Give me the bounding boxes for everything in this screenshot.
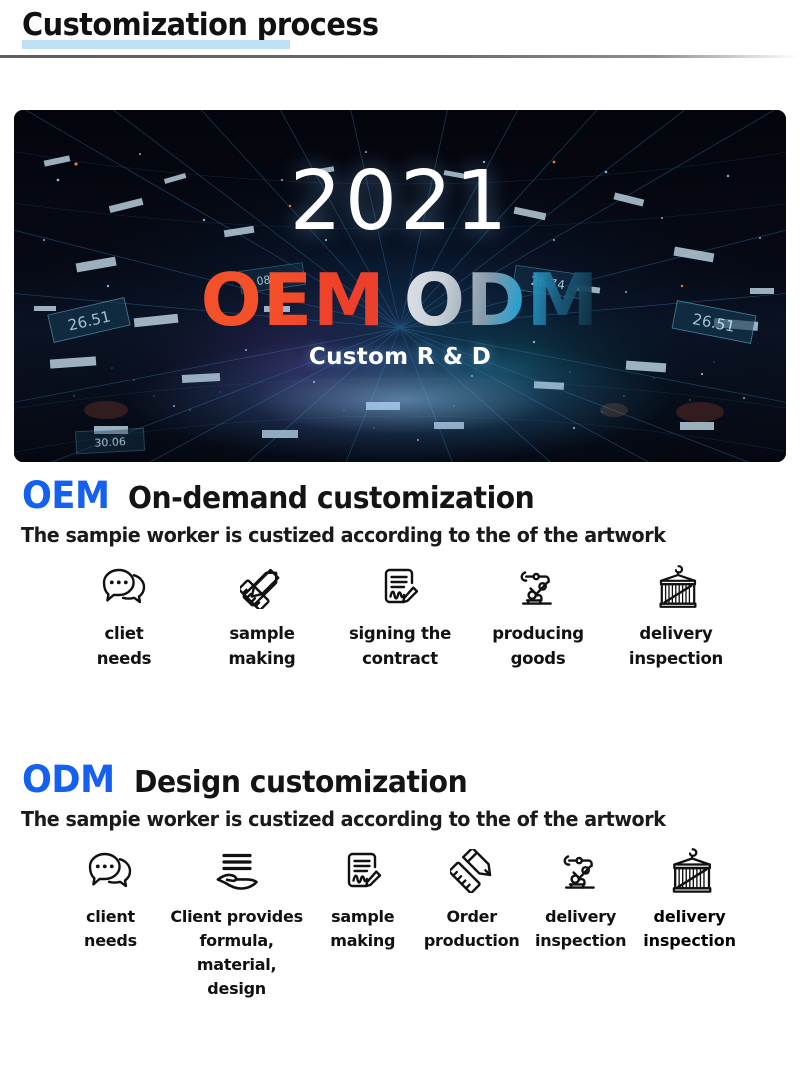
step-label-line1: sample <box>331 907 394 926</box>
banner-brand-odm: ODM <box>390 258 600 342</box>
step-label-line1: delivery <box>654 907 726 926</box>
step-label: Order production <box>424 905 520 953</box>
step-label-line2: making <box>330 931 395 950</box>
odm-step-delivery-inspection-crate[interactable]: delivery inspection <box>635 847 744 953</box>
banner-brand: OEMODM <box>201 260 600 340</box>
banner-brand-oem: OEM <box>201 258 390 342</box>
section-oem: OEM On-demand customization The sampie w… <box>0 474 800 671</box>
page-title: Customization process <box>22 6 746 44</box>
oem-step-list: cliet needs <box>0 563 800 671</box>
banner-year: 2021 <box>290 158 511 246</box>
step-label-line1: cliet <box>105 624 144 643</box>
step-label: cliet needs <box>97 621 152 671</box>
odm-step-sample-making[interactable]: sample making <box>308 847 417 953</box>
section-odm-tag: ODM <box>22 758 115 801</box>
signed-document-icon <box>378 563 422 611</box>
step-label: sample making <box>228 621 295 671</box>
chat-bubbles-icon <box>86 847 134 895</box>
step-label-line2: contract <box>362 649 438 668</box>
step-label-line1: client <box>86 907 135 926</box>
step-label: delivery inspection <box>643 905 736 953</box>
odm-step-delivery-inspection-robot[interactable]: delivery inspection <box>526 847 635 953</box>
customization-process-page: Customization process <box>0 0 800 1071</box>
section-odm-description: The sampie worker is custized according … <box>0 807 764 831</box>
step-label-line2: inspection <box>643 931 736 950</box>
section-oem-heading: OEM On-demand customization <box>0 474 800 517</box>
header-divider-rule <box>0 55 800 58</box>
step-label-line1: Client provides <box>170 907 303 926</box>
section-odm: ODM Design customization The sampie work… <box>0 758 800 1001</box>
pencil-ruler-icon <box>240 563 284 611</box>
step-label-line1: signing the <box>349 624 451 643</box>
step-label-line2: inspection <box>629 649 723 668</box>
step-label-line2: making <box>228 649 295 668</box>
pencil-ruler-icon <box>450 847 494 895</box>
crate-hook-icon <box>667 847 713 895</box>
oem-step-signing-contract[interactable]: signing the contract <box>331 563 469 671</box>
banner-content: 2021 OEMODM Custom R & D <box>14 110 786 462</box>
step-label-line1: delivery <box>545 907 616 926</box>
odm-step-client-needs[interactable]: client needs <box>56 847 165 953</box>
banner-subtitle: Custom R & D <box>309 344 491 370</box>
oem-step-delivery-inspection[interactable]: delivery inspection <box>607 563 745 671</box>
crate-hook-icon <box>654 563 698 611</box>
step-label-line2: needs <box>84 931 137 950</box>
odm-step-list: client needs Client provides for <box>0 847 800 1001</box>
step-label: delivery inspection <box>629 621 723 671</box>
step-label-line2: goods <box>511 649 566 668</box>
oem-odm-banner: 26.51 26.51 26.74 08.12 <box>14 110 786 462</box>
page-header: Customization process <box>0 0 800 44</box>
step-label-line1: delivery <box>639 624 712 643</box>
step-label-line2: formula, <box>199 931 273 950</box>
section-oem-tag: OEM <box>22 474 109 517</box>
robot-arm-icon <box>516 563 560 611</box>
signed-document-icon <box>341 847 385 895</box>
robot-arm-icon <box>559 847 603 895</box>
section-odm-heading: ODM Design customization <box>0 758 800 801</box>
section-oem-title: On-demand customization <box>128 481 534 516</box>
section-oem-description: The sampie worker is custized according … <box>0 523 764 547</box>
step-label-line4: design <box>207 979 266 998</box>
step-label: sample making <box>330 905 395 953</box>
step-label-line1: Order <box>446 907 496 926</box>
odm-step-client-provides[interactable]: Client provides formula, material, desig… <box>165 847 308 1001</box>
chat-bubbles-icon <box>100 563 148 611</box>
step-label-line3: material, <box>197 955 276 974</box>
step-label: producing goods <box>492 621 584 671</box>
oem-step-client-needs[interactable]: cliet needs <box>55 563 193 671</box>
step-label-line1: sample <box>229 624 294 643</box>
step-label: signing the contract <box>349 621 451 671</box>
step-label-line2: production <box>424 931 520 950</box>
step-label-line1: producing <box>492 624 584 643</box>
section-odm-title: Design customization <box>134 765 467 800</box>
step-label-line2: inspection <box>535 931 626 950</box>
oem-step-sample-making[interactable]: sample making <box>193 563 331 671</box>
title-underline-accent <box>22 40 290 49</box>
step-label: client needs <box>84 905 137 953</box>
step-label: delivery inspection <box>535 905 626 953</box>
step-label-line2: needs <box>97 649 152 668</box>
step-label: Client provides formula, material, desig… <box>170 905 303 1001</box>
odm-step-order-production[interactable]: Order production <box>417 847 526 953</box>
hand-documents-icon <box>214 847 260 895</box>
oem-step-producing-goods[interactable]: producing goods <box>469 563 607 671</box>
